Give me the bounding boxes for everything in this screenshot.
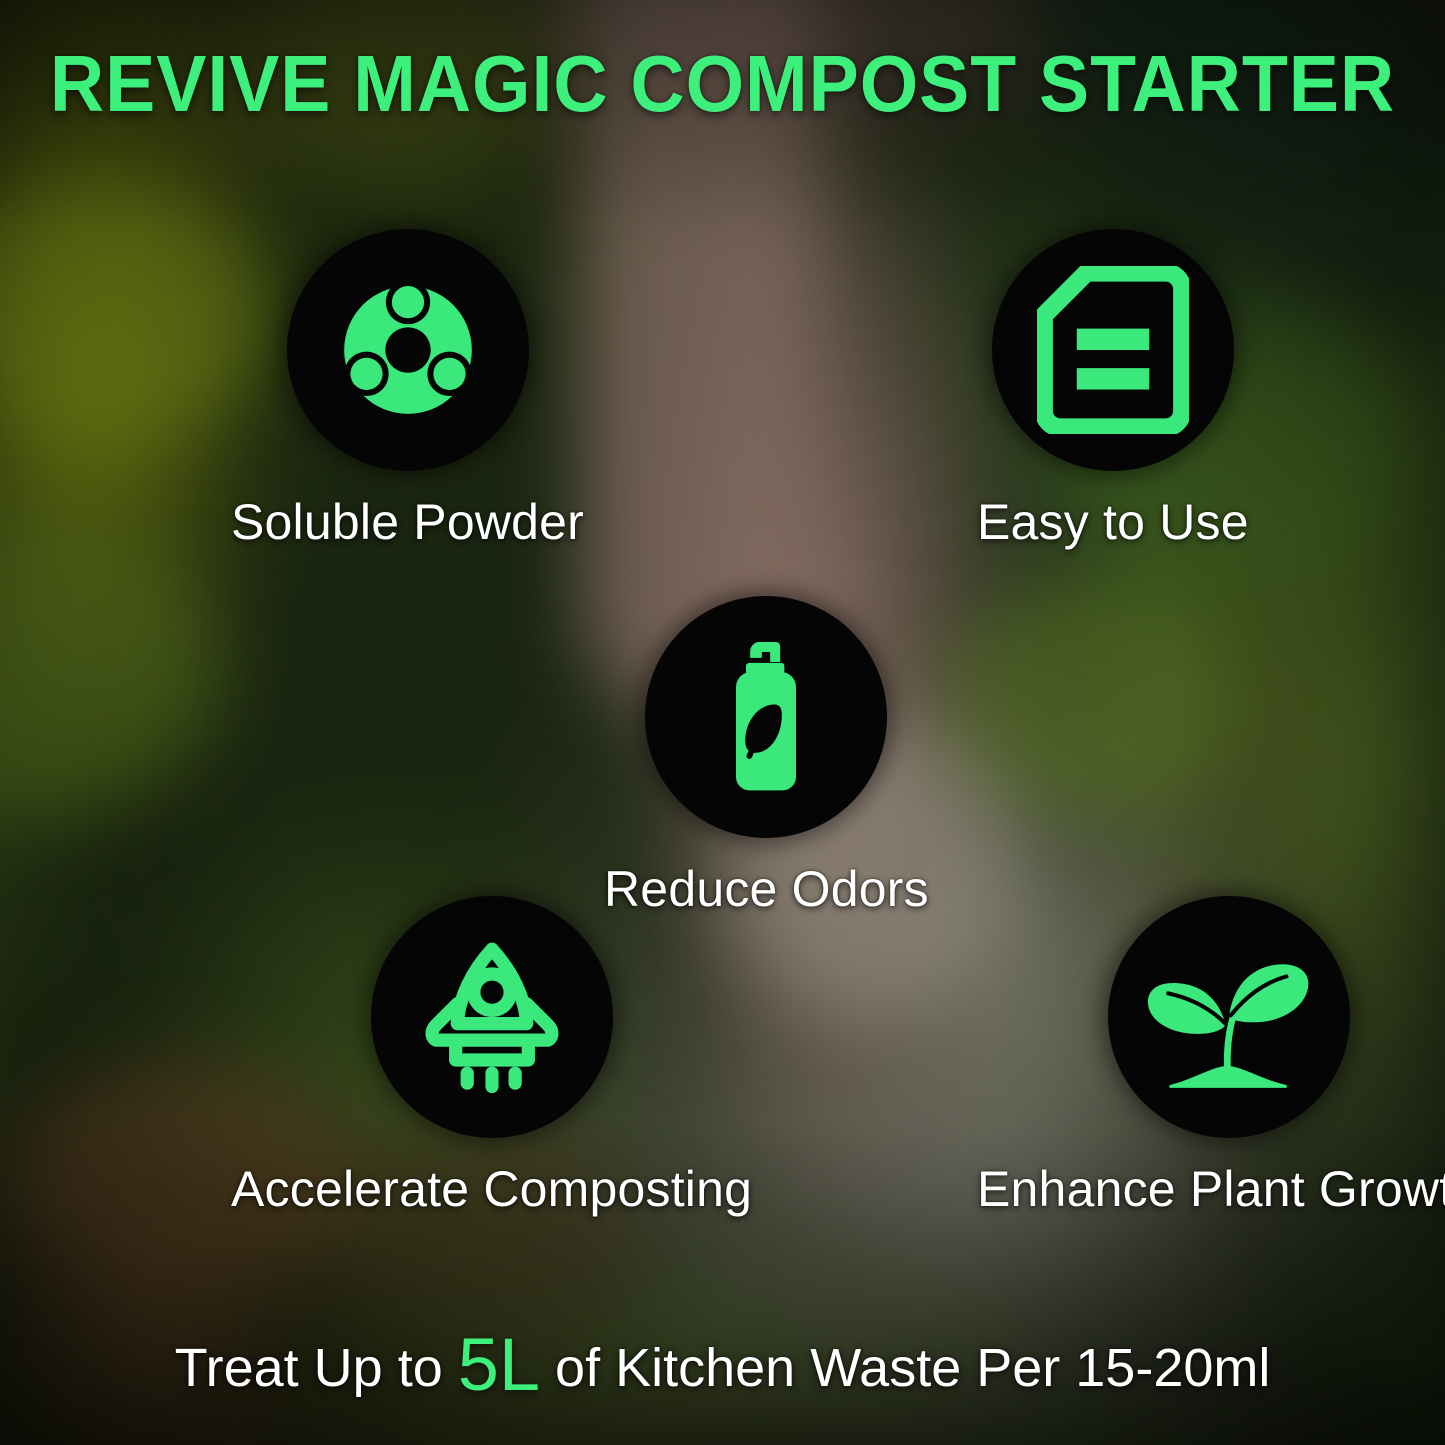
icon-disc [992,229,1234,471]
feature-label: Enhance Plant Growth [977,1162,1445,1217]
dosage-prefix: Treat Up to [175,1338,458,1398]
rocket-icon [416,937,568,1097]
feature-enhance-plant-growth: Enhance Plant Growth [977,896,1445,1217]
product-feature-poster: REVIVE MAGIC COMPOST STARTER [0,0,1445,1445]
feature-accelerate-composting: Accelerate Composting [231,896,752,1217]
document-icon [1037,266,1189,434]
feature-reduce-odors: Reduce Odors [604,596,929,917]
dosage-statement: Treat Up to 5L of Kitchen Waste Per 15-2… [0,1332,1445,1399]
sprout-icon [1141,941,1317,1093]
icon-disc [287,229,529,471]
dosage-highlight: 5L [458,1323,540,1406]
feature-easy-to-use: Easy to Use [977,229,1249,550]
feature-label: Soluble Powder [231,495,584,550]
page-title: REVIVE MAGIC COMPOST STARTER [43,44,1401,124]
feature-label: Accelerate Composting [231,1162,752,1217]
feature-soluble-powder: Soluble Powder [231,229,584,550]
feature-label: Easy to Use [977,495,1249,550]
icon-disc [645,596,887,838]
spray-bottle-leaf-icon [714,637,818,797]
dosage-suffix: of Kitchen Waste Per 15-20ml [540,1338,1270,1398]
icon-disc [1108,896,1350,1138]
soluble-powder-icon [324,266,492,434]
icon-disc [371,896,613,1138]
poster-content: REVIVE MAGIC COMPOST STARTER [0,0,1445,1445]
